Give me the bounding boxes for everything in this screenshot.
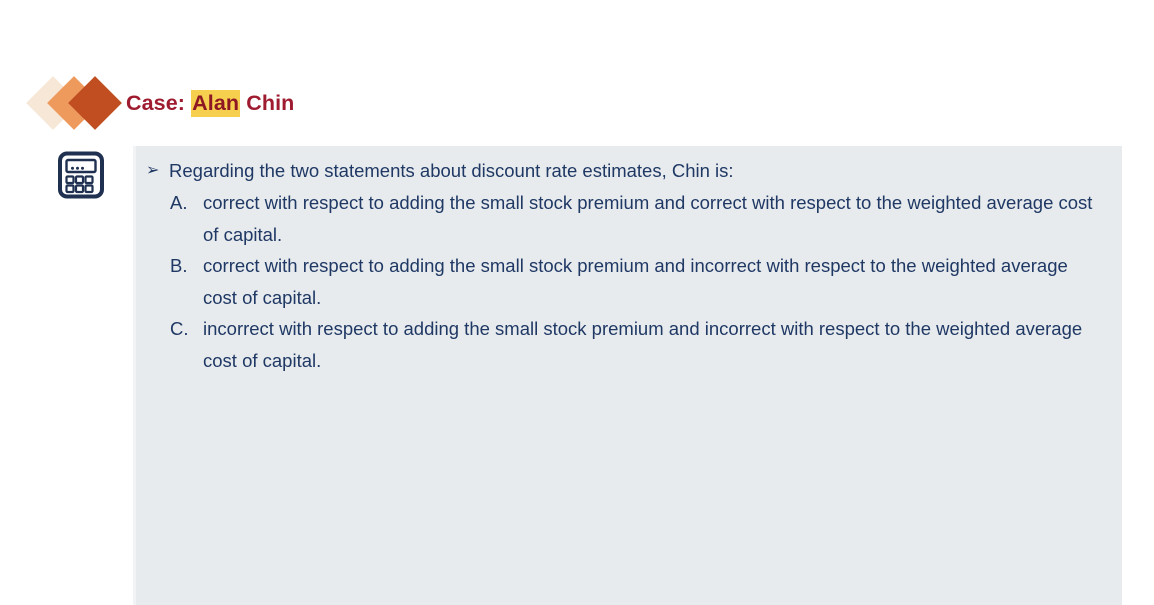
answer-options-list: A. correct with respect to adding the sm…: [136, 187, 1122, 376]
answer-option-c-letter: C.: [170, 313, 203, 345]
answer-option-a[interactable]: A. correct with respect to adding the sm…: [136, 187, 1122, 250]
page-title-suffix: Chin: [246, 91, 294, 115]
answer-option-a-letter: A.: [170, 187, 203, 219]
question-block: ➢ Regarding the two statements about dis…: [136, 146, 1122, 376]
slide-title-row: Case: Alan Chin: [0, 72, 1154, 134]
page-title-prefix: Case:: [126, 91, 185, 115]
question-panel: ➢ Regarding the two statements about dis…: [133, 146, 1122, 605]
question-prompt-text: Regarding the two statements about disco…: [169, 155, 734, 186]
page-title: Case: Alan Chin: [126, 93, 294, 115]
diamond-decoration: [30, 72, 130, 134]
answer-option-b[interactable]: B. correct with respect to adding the sm…: [136, 250, 1122, 313]
answer-option-c[interactable]: C. incorrect with respect to adding the …: [136, 313, 1122, 376]
calculator-icon: [56, 151, 106, 199]
answer-option-b-letter: B.: [170, 250, 203, 282]
page-title-highlighted-name: Alan: [191, 90, 240, 117]
answer-option-b-text: correct with respect to adding the small…: [203, 250, 1103, 313]
answer-option-a-text: correct with respect to adding the small…: [203, 187, 1103, 250]
arrow-bullet-icon: ➢: [146, 155, 169, 186]
question-prompt-line: ➢ Regarding the two statements about dis…: [136, 155, 1122, 186]
answer-option-c-text: incorrect with respect to adding the sma…: [203, 313, 1103, 376]
